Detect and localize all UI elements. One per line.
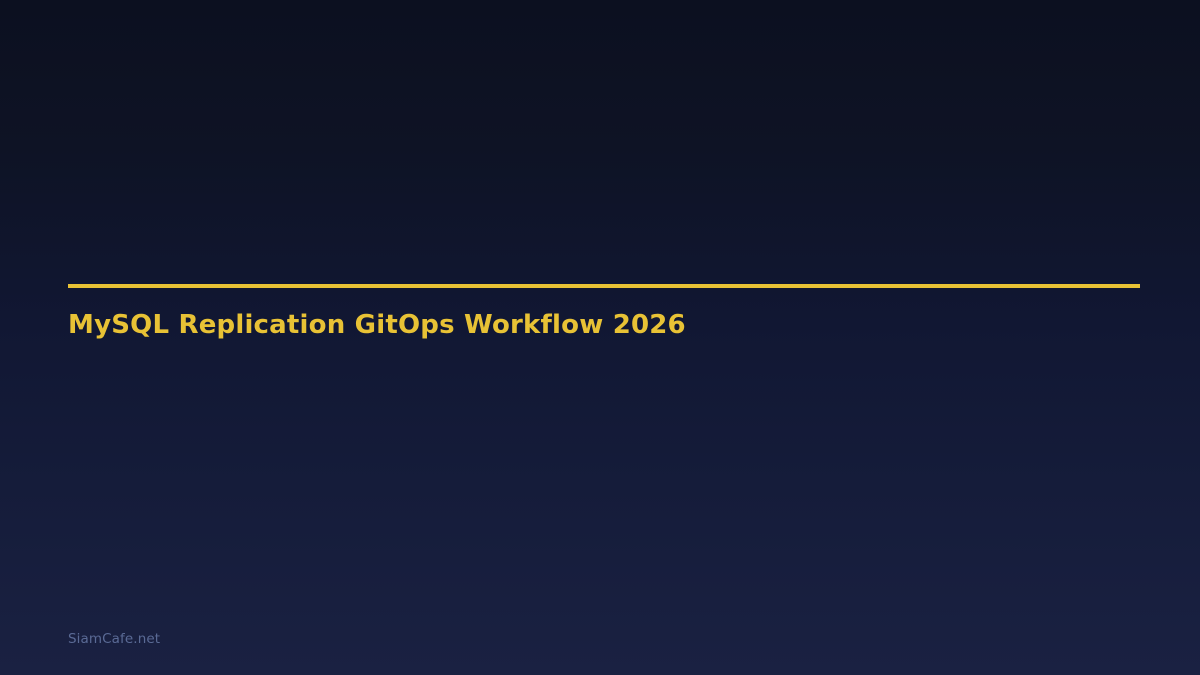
footer-brand: SiamCafe.net <box>68 629 160 649</box>
page-title: MySQL Replication GitOps Workflow 2026 <box>68 308 686 342</box>
presentation-slide: MySQL Replication GitOps Workflow 2026 S… <box>0 0 1200 675</box>
title-block: MySQL Replication GitOps Workflow 2026 <box>68 284 1140 288</box>
accent-rule <box>68 284 1140 288</box>
